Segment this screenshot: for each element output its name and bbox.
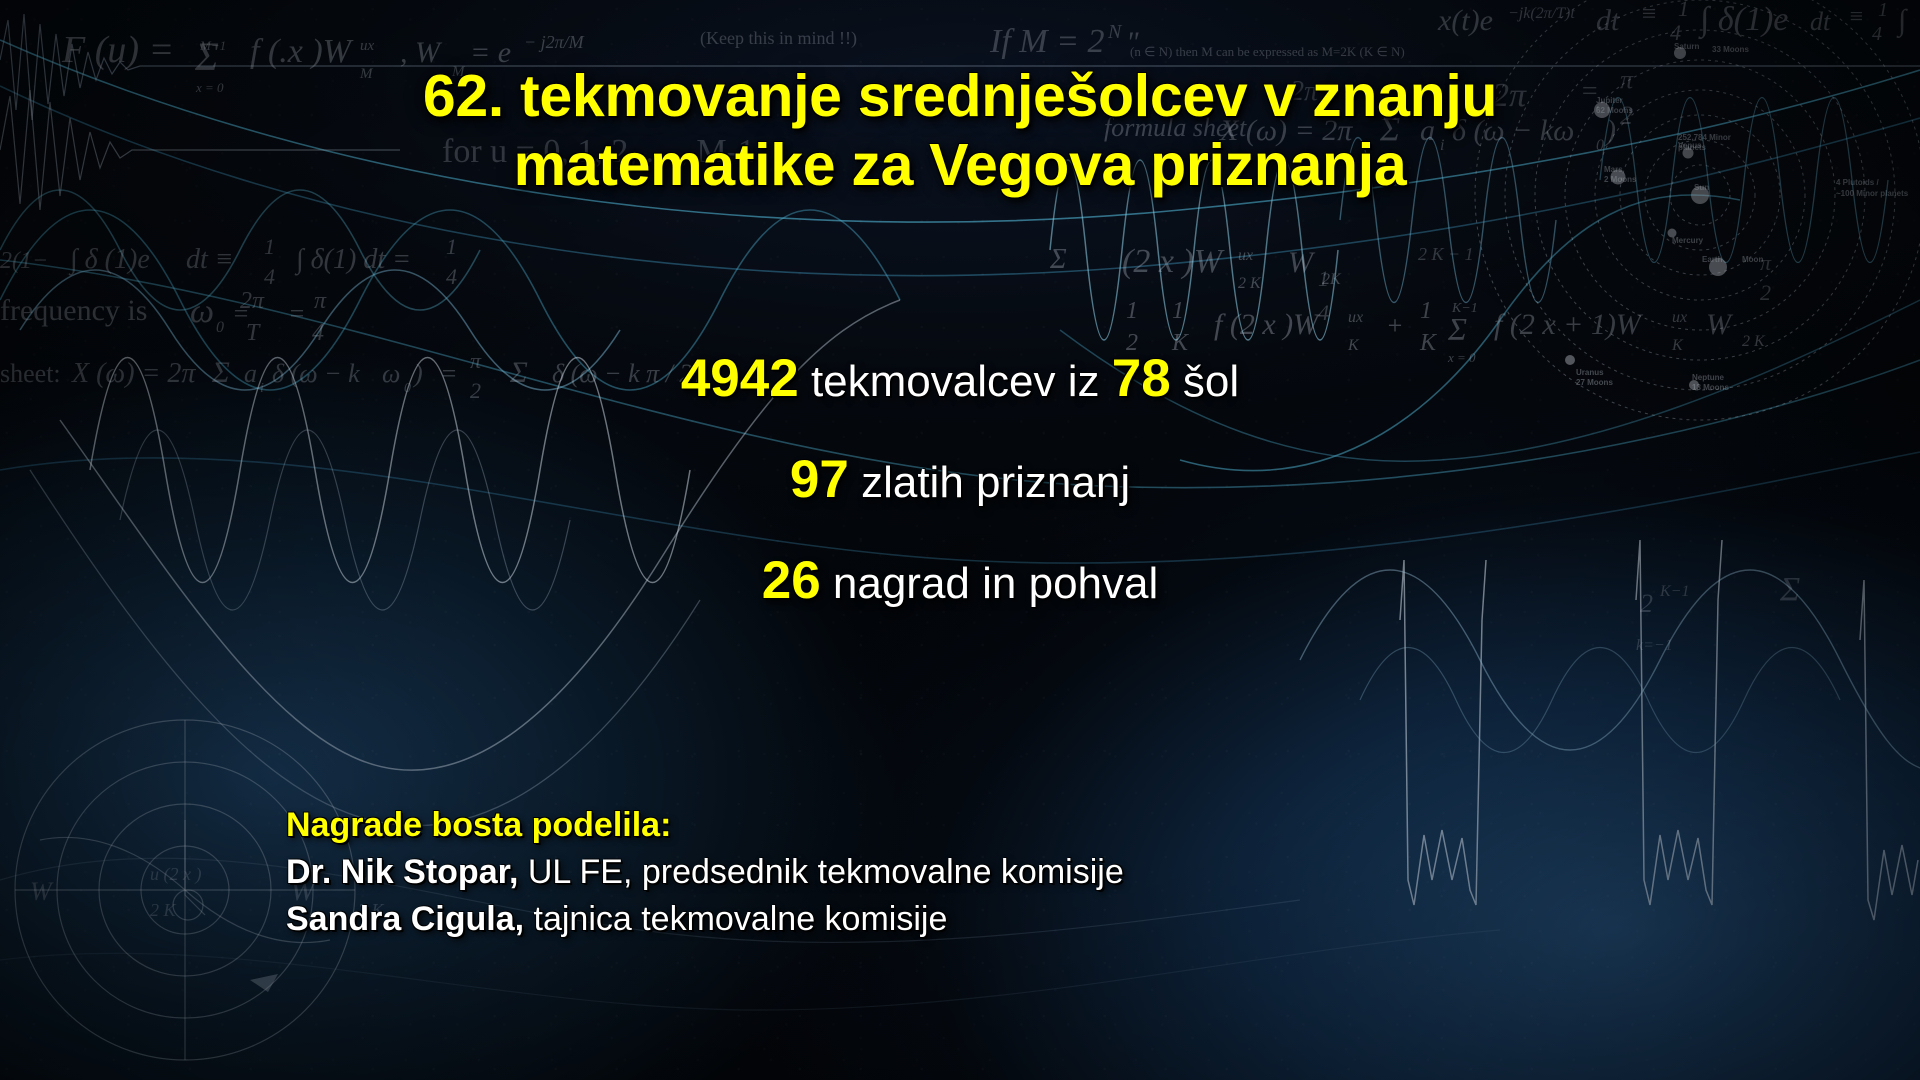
stat-number-gold-awards: 97 xyxy=(790,450,849,509)
stat-label-gold-awards: zlatih priznanj xyxy=(849,458,1130,507)
stat-row-competitors: 4942 tekmovalcev iz 78 šol xyxy=(0,352,1920,405)
credits-block: Nagrade bosta podelila: Dr. Nik Stopar, … xyxy=(286,802,1124,943)
title-line-2: matematike za Vegova priznanja xyxy=(150,131,1770,200)
credits-person-2-name: Sandra Cigula, xyxy=(286,900,524,938)
credits-person-1: Dr. Nik Stopar, UL FE, predsednik tekmov… xyxy=(286,849,1124,896)
stat-row-gold-awards: 97 zlatih priznanj xyxy=(0,453,1920,506)
stat-label-schools: šol xyxy=(1171,357,1239,406)
stat-row-prizes: 26 nagrad in pohval xyxy=(0,554,1920,607)
slide-content: 62. tekmovanje srednješolcev v znanju ma… xyxy=(0,0,1920,1080)
title-line-1: 62. tekmovanje srednješolcev v znanju xyxy=(150,62,1770,131)
stat-number-competitors: 4942 xyxy=(681,349,799,408)
credits-person-2: Sandra Cigula, tajnica tekmovalne komisi… xyxy=(286,896,1124,943)
stat-number-prizes: 26 xyxy=(762,551,821,610)
credits-person-2-role: tajnica tekmovalne komisije xyxy=(524,900,947,938)
page-title: 62. tekmovanje srednješolcev v znanju ma… xyxy=(0,62,1920,200)
stat-label-prizes: nagrad in pohval xyxy=(821,559,1159,608)
statistics-block: 4942 tekmovalcev iz 78 šol 97 zlatih pri… xyxy=(0,352,1920,607)
stat-label-competitors: tekmovalcev iz xyxy=(799,357,1112,406)
presentation-slide: Sun Mercury Venus Earth Moon Mars 2 Moon… xyxy=(0,0,1920,1080)
stat-number-schools: 78 xyxy=(1112,349,1171,408)
credits-person-1-role: UL FE, predsednik tekmovalne komisije xyxy=(518,853,1123,891)
credits-heading: Nagrade bosta podelila: xyxy=(286,802,1124,849)
credits-person-1-name: Dr. Nik Stopar, xyxy=(286,853,518,891)
